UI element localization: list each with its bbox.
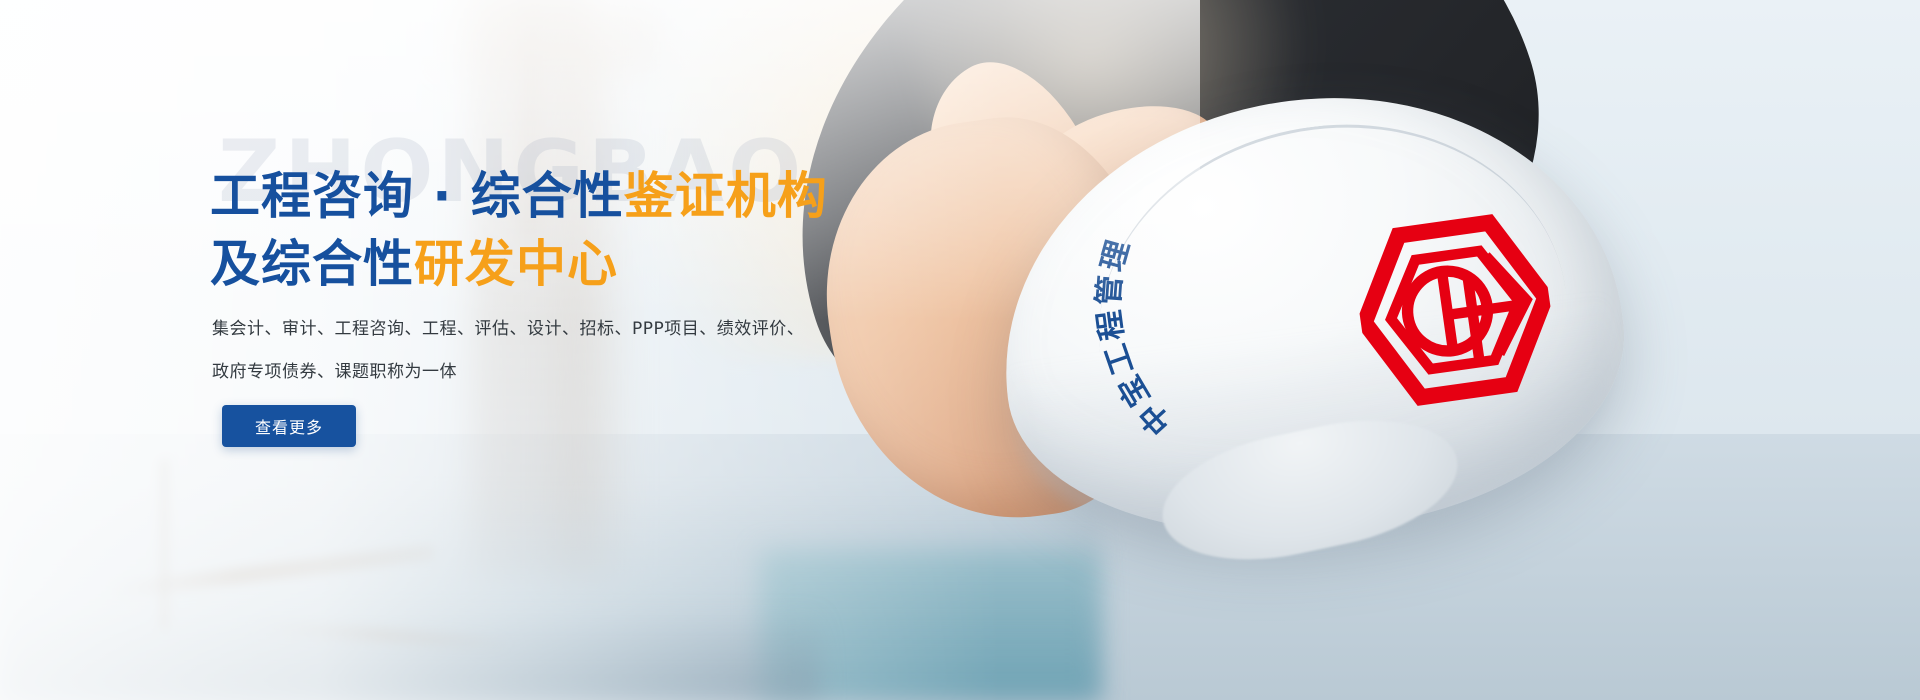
hero-description: 集会计、审计、工程咨询、工程、评估、设计、招标、PPP项目、绩效评价、 政府专项… <box>212 308 804 394</box>
headline-line-1-orange: 鉴证机构 <box>624 167 828 225</box>
page-title: 工程咨询 · 综合性鉴证机构 及综合性研发中心 <box>210 162 828 298</box>
hero-description-line-1: 集会计、审计、工程咨询、工程、评估、设计、招标、PPP项目、绩效评价、 <box>212 308 804 351</box>
headline-line-1-blue: 工程咨询 · 综合性 <box>210 167 624 225</box>
headline-line-2-blue: 及综合性 <box>210 235 414 293</box>
hero-banner: 中宝工程管理 ZHONGBAO 工程咨询 · 综合性鉴证机构 <box>0 0 1920 700</box>
view-more-button[interactable]: 查看更多 <box>222 405 356 447</box>
headline-line-2: 及综合性研发中心 <box>210 230 828 298</box>
zhongbao-hexagon-logo-icon <box>1348 203 1563 418</box>
hero-description-line-2: 政府专项债券、课题职称为一体 <box>212 351 804 394</box>
headline-line-2-orange: 研发中心 <box>414 235 618 293</box>
headline-line-1: 工程咨询 · 综合性鉴证机构 <box>210 162 828 230</box>
hero-content: ZHONGBAO 工程咨询 · 综合性鉴证机构 及综合性研发中心 集会计、审计、… <box>210 0 1110 700</box>
